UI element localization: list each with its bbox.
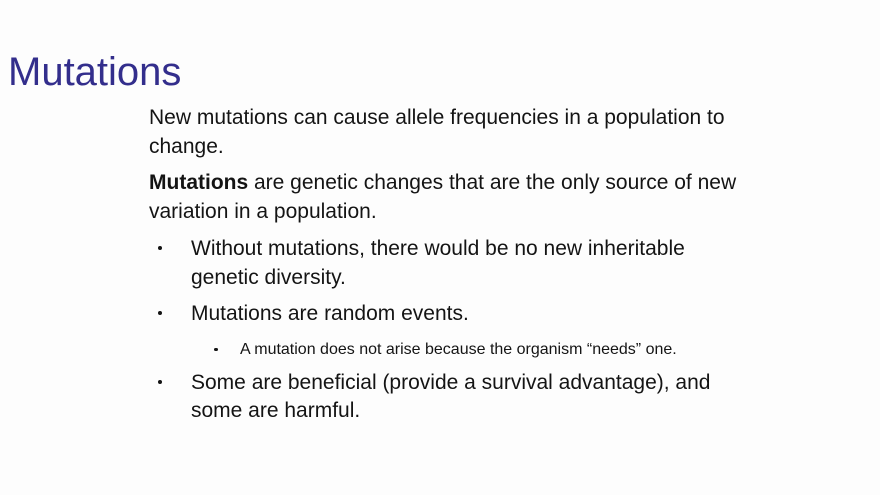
paragraph-intro-text: New mutations can cause allele frequenci… [149, 106, 725, 158]
bullet-dot-icon [158, 380, 162, 384]
list-item-label: Mutations are random events. [191, 302, 469, 325]
bullet-list: Without mutations, there would be no new… [149, 235, 749, 426]
list-item: Some are beneficial (provide a survival … [158, 369, 749, 426]
bullet-dot-icon [158, 311, 162, 315]
sub-bullet-dot-icon [214, 348, 218, 352]
bullet-dot-icon [158, 246, 162, 250]
sub-bullet-list: A mutation does not arise because the or… [191, 339, 749, 361]
sub-list-item: A mutation does not arise because the or… [214, 339, 749, 361]
slide-body: New mutations can cause allele frequenci… [149, 104, 749, 434]
list-item: Mutations are random events. A mutation … [158, 300, 749, 361]
list-item-label: Without mutations, there would be no new… [191, 237, 685, 289]
paragraph-intro: New mutations can cause allele frequenci… [149, 104, 749, 161]
page-title: Mutations [8, 49, 181, 95]
list-item: Without mutations, there would be no new… [158, 235, 749, 292]
slide-canvas: Mutations New mutations can cause allele… [0, 0, 880, 495]
paragraph-definition-lead: Mutations [149, 171, 248, 194]
list-item-label: Some are beneficial (provide a survival … [191, 371, 710, 423]
sub-list-item-label: A mutation does not arise because the or… [240, 341, 677, 358]
paragraph-definition: Mutations are genetic changes that are t… [149, 169, 749, 226]
